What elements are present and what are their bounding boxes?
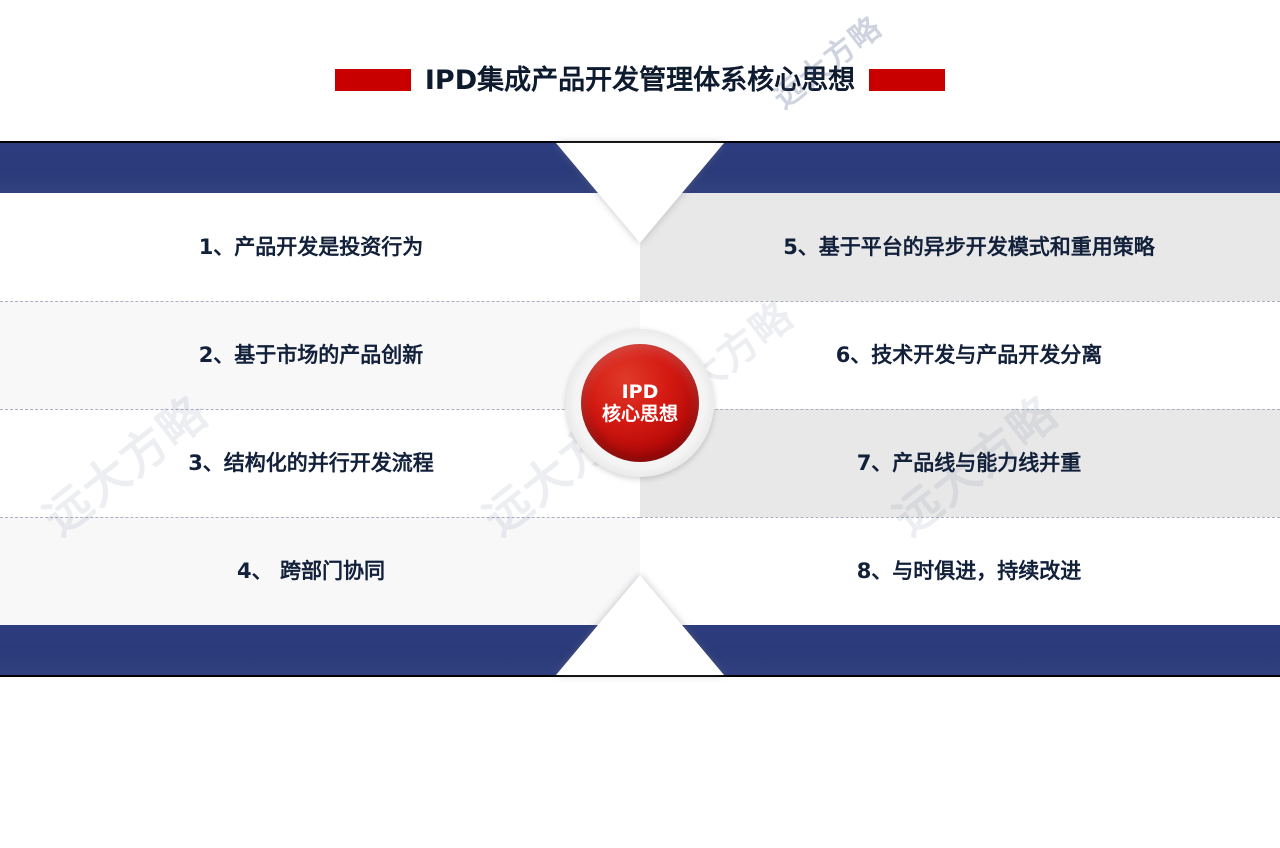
center-badge[interactable]: IPD 核心思想 xyxy=(566,329,714,477)
badge-line-1: IPD xyxy=(622,383,659,402)
slide-canvas: IPD集成产品开发管理体系核心思想 远大方略 1、产品开发是投资行为 2、基于市… xyxy=(0,0,1280,848)
triangle-down-icon xyxy=(556,143,724,243)
center-badge-inner: IPD 核心思想 xyxy=(581,344,699,462)
list-item[interactable]: 3、结构化的并行开发流程 xyxy=(0,409,640,517)
left-item-4-label: 4、 跨部门协同 xyxy=(237,561,385,582)
left-item-3-label: 3、结构化的并行开发流程 xyxy=(188,453,434,474)
list-item[interactable]: 6、技术开发与产品开发分离 xyxy=(640,301,1280,409)
title-accent-bar-right xyxy=(869,69,945,91)
list-item[interactable]: 1、产品开发是投资行为 xyxy=(0,193,640,301)
slide-title-row: IPD集成产品开发管理体系核心思想 xyxy=(0,58,1280,102)
triangle-up-icon xyxy=(556,575,724,675)
left-column: 1、产品开发是投资行为 2、基于市场的产品创新 3、结构化的并行开发流程 4、 … xyxy=(0,193,640,625)
list-item[interactable]: 4、 跨部门协同 xyxy=(0,517,640,625)
right-item-8-label: 8、与时俱进，持续改进 xyxy=(857,561,1082,582)
left-item-1-label: 1、产品开发是投资行为 xyxy=(199,237,424,258)
page-title: IPD集成产品开发管理体系核心思想 xyxy=(425,67,855,94)
left-item-2-label: 2、基于市场的产品创新 xyxy=(199,345,424,366)
title-accent-bar-left xyxy=(335,69,411,91)
list-item[interactable]: 2、基于市场的产品创新 xyxy=(0,301,640,409)
right-item-7-label: 7、产品线与能力线并重 xyxy=(857,453,1082,474)
right-item-5-label: 5、基于平台的异步开发模式和重用策略 xyxy=(783,237,1155,258)
list-item[interactable]: 7、产品线与能力线并重 xyxy=(640,409,1280,517)
badge-line-2: 核心思想 xyxy=(602,405,678,424)
right-column: 5、基于平台的异步开发模式和重用策略 6、技术开发与产品开发分离 7、产品线与能… xyxy=(640,193,1280,625)
list-item[interactable]: 5、基于平台的异步开发模式和重用策略 xyxy=(640,193,1280,301)
right-item-6-label: 6、技术开发与产品开发分离 xyxy=(836,345,1103,366)
list-item[interactable]: 8、与时俱进，持续改进 xyxy=(640,517,1280,625)
band-bottom-rule xyxy=(0,675,1280,677)
